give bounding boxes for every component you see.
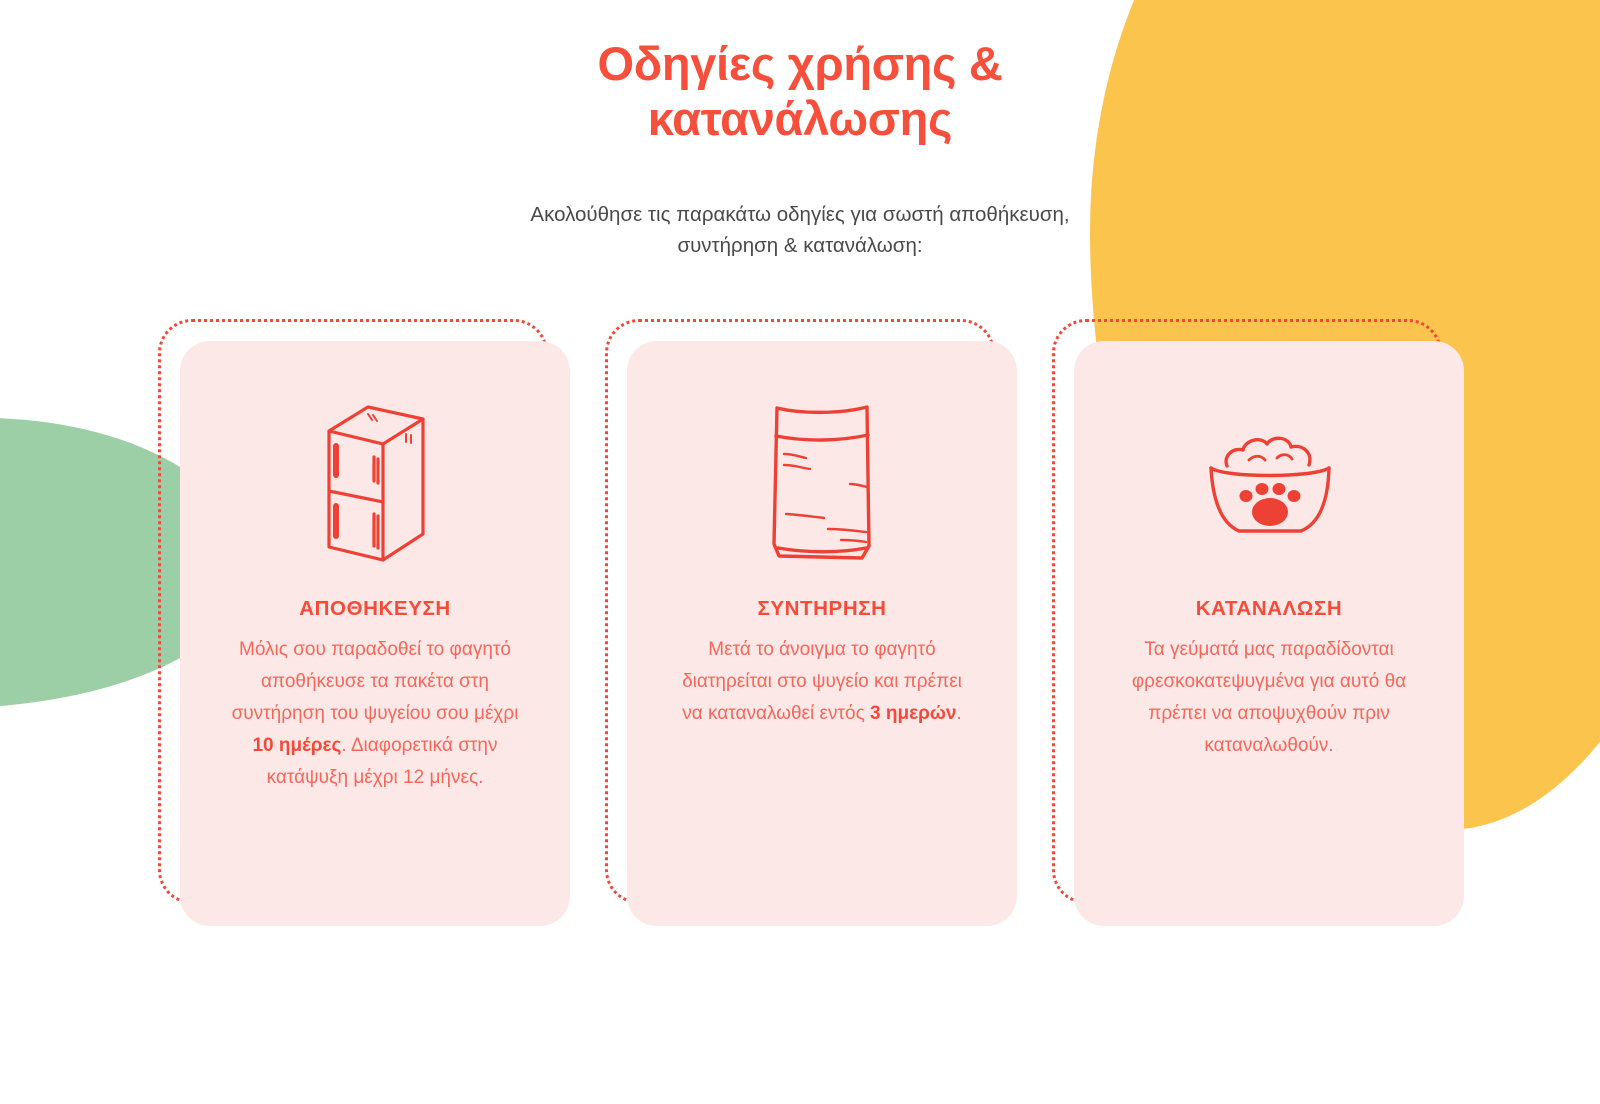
page-subtitle: Ακολούθησε τις παρακάτω οδηγίες για σωστ…: [520, 199, 1080, 261]
card-surface: ΑΠΟΘΗΚΕΥΣΗ Μόλις σου παραδοθεί το φαγητό…: [180, 341, 570, 926]
refrigerator-icon: [310, 381, 440, 581]
slide-canvas: Οδηγίες χρήσης & κατανάλωσης Ακολούθησε …: [0, 0, 1600, 1104]
instruction-cards: ΑΠΟΘΗΚΕΥΣΗ Μόλις σου παραδοθεί το φαγητό…: [0, 319, 1600, 904]
card-body: Τα γεύματά μας παραδίδονται φρεσκοκατεψυ…: [1119, 634, 1419, 762]
card-preservation: ΣΥΝΤΗΡΗΣΗ Μετά το άνοιγμα το φαγητό διατ…: [605, 319, 995, 904]
card-consumption: ΚΑΤΑΝΑΛΩΣΗ Τα γεύματά μας παραδίδονται φ…: [1052, 319, 1442, 904]
food-pouch-icon: [762, 381, 882, 581]
card-body: Μόλις σου παραδοθεί το φαγητό αποθήκευσε…: [225, 634, 525, 794]
card-surface: ΣΥΝΤΗΡΗΣΗ Μετά το άνοιγμα το φαγητό διατ…: [627, 341, 1017, 926]
card-surface: ΚΑΤΑΝΑΛΩΣΗ Τα γεύματά μας παραδίδονται φ…: [1074, 341, 1464, 926]
card-body: Μετά το άνοιγμα το φαγητό διατηρείται στ…: [672, 634, 972, 730]
card-title: ΚΑΤΑΝΑΛΩΣΗ: [1196, 597, 1343, 621]
header: Οδηγίες χρήσης & κατανάλωσης Ακολούθησε …: [0, 0, 1600, 261]
card-title: ΑΠΟΘΗΚΕΥΣΗ: [299, 597, 451, 621]
page-title: Οδηγίες χρήσης & κατανάλωσης: [520, 36, 1080, 147]
pet-bowl-icon: [1189, 381, 1349, 581]
card-storage: ΑΠΟΘΗΚΕΥΣΗ Μόλις σου παραδοθεί το φαγητό…: [158, 319, 548, 904]
card-title: ΣΥΝΤΗΡΗΣΗ: [757, 597, 886, 621]
